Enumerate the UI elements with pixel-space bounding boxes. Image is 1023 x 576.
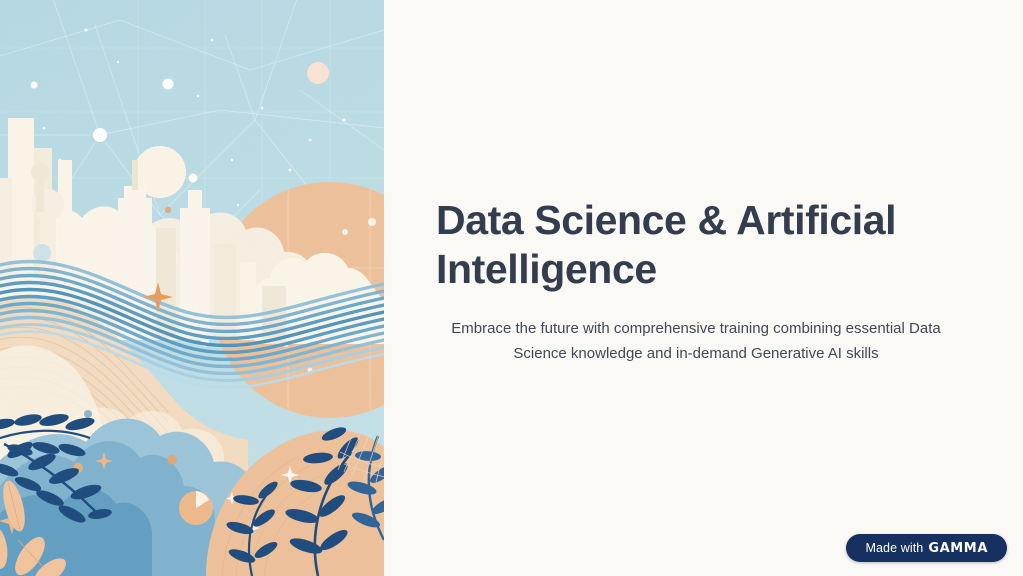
page-title: Data Science & Artificial Intelligence (436, 196, 976, 294)
content-panel: Data Science & Artificial Intelligence E… (384, 0, 1023, 576)
abstract-landscape-illustration (0, 0, 384, 576)
illustration-panel (0, 0, 384, 576)
gamma-wordmark: GAMMA (928, 541, 988, 556)
page-title-line-1: Data Science & Artificial (436, 197, 896, 243)
slide-text-block: Data Science & Artificial Intelligence E… (436, 196, 976, 366)
page-title-line-2: Intelligence (436, 246, 657, 292)
badge-prefix-label: Made with (865, 541, 923, 555)
made-with-gamma-badge[interactable]: Made with GAMMA (846, 534, 1007, 562)
page-subtitle: Embrace the future with comprehensive tr… (436, 316, 956, 366)
presentation-slide: Data Science & Artificial Intelligence E… (0, 0, 1023, 576)
texture-overlay (0, 0, 384, 576)
